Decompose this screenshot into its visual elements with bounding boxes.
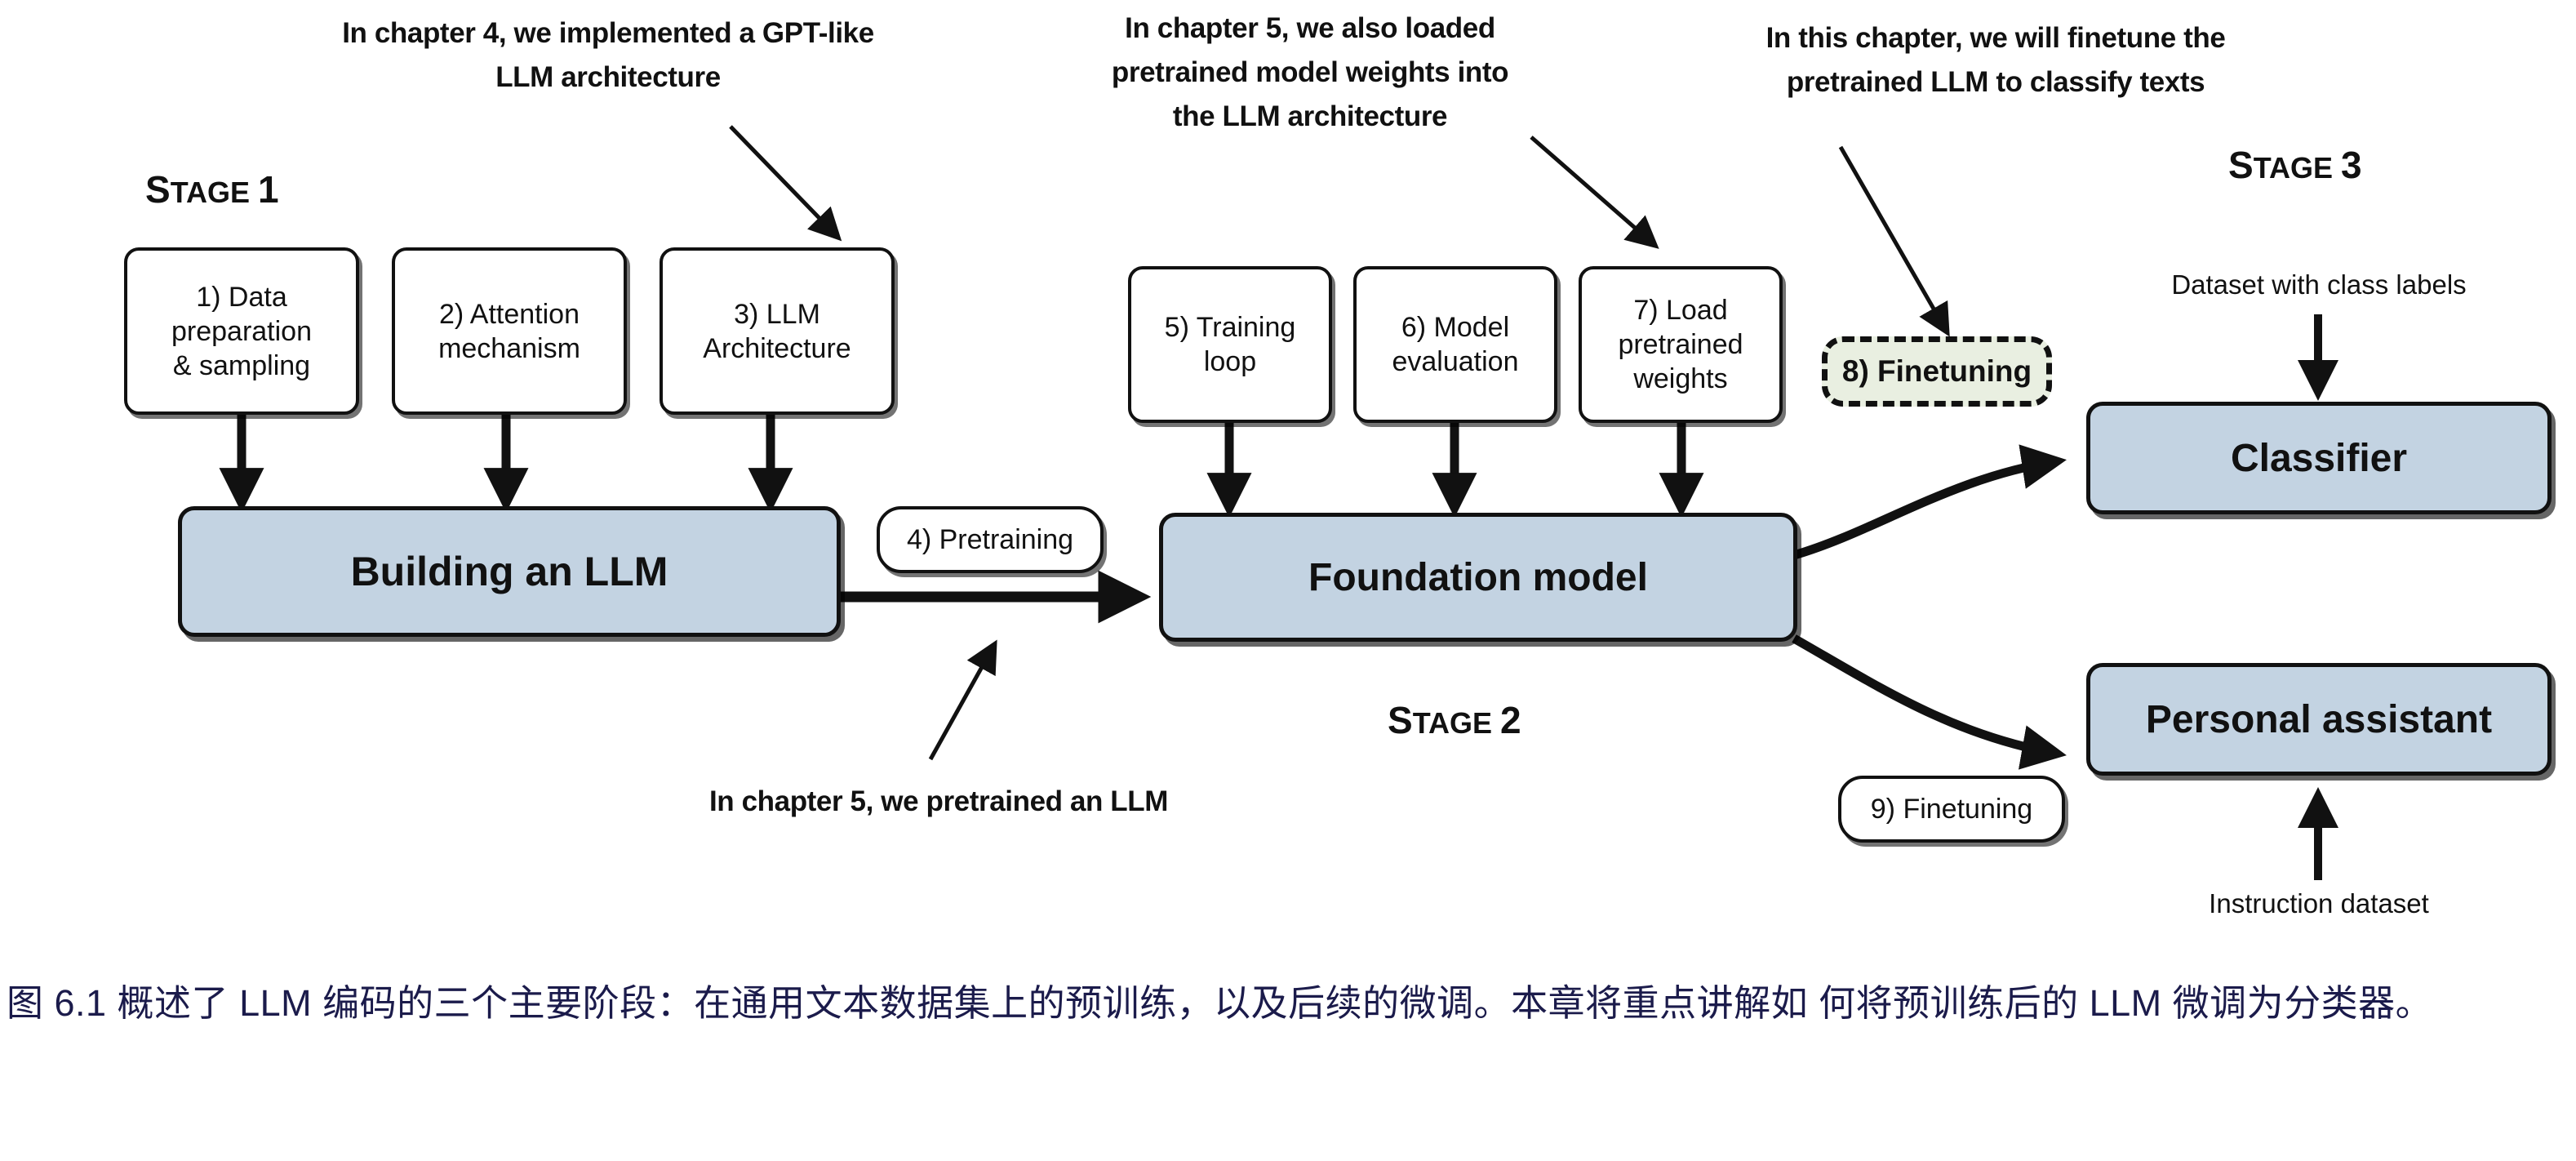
stage-1-initial: S [145, 168, 171, 211]
stage-3-number: 3 [2341, 144, 2362, 186]
arrow-note-ch4-to-step3 [731, 127, 837, 237]
note-chapter5-pretrained: In chapter 5, we pretrained an LLM [571, 780, 1306, 824]
stage-label-2: STAGE 2 [1388, 698, 1521, 742]
caption-line-2: 何将预训练后的 LLM 微调为分类器。 [1819, 982, 2432, 1024]
connector-pill-9-finetuning[interactable]: 9) Finetuning [1838, 776, 2065, 843]
note-chapter5-weights: In chapter 5, we also loaded pretrained … [1028, 7, 1592, 139]
stage-3-initial: S [2228, 144, 2254, 186]
figure-canvas: In chapter 4, we implemented a GPT-like … [0, 0, 2576, 1161]
arrow-note-ch5weights-to-step7 [1531, 137, 1654, 245]
arrow-note-thischapter-to-finetuning [1841, 147, 1947, 331]
label-instruction-dataset: Instruction dataset [2086, 888, 2552, 919]
label-dataset-with-class-labels: Dataset with class labels [2086, 269, 2552, 300]
step-box-3-llm-architecture[interactable]: 3) LLM Architecture [660, 247, 895, 415]
arrow-foundation-to-classifier [1794, 461, 2057, 555]
stage-1-word: TAGE [171, 176, 258, 209]
outcome-box-foundation-model[interactable]: Foundation model [1159, 513, 1797, 642]
connector-pill-4-pretraining[interactable]: 4) Pretraining [877, 506, 1104, 573]
step-box-2-attention-mechanism[interactable]: 2) Attention mechanism [392, 247, 627, 415]
arrow-foundation-to-assistant [1794, 638, 2057, 754]
stage-3-word: TAGE [2254, 151, 2341, 185]
figure-caption: 图 6.1 概述了 LLM 编码的三个主要阶段：在通用文本数据集上的预训练，以及… [7, 976, 2529, 1030]
outcome-box-building-an-llm[interactable]: Building an LLM [178, 506, 841, 637]
stage-2-number: 2 [1500, 699, 1521, 741]
stage-label-1: STAGE 1 [145, 167, 279, 211]
stage-1-number: 1 [258, 168, 279, 211]
arrow-note-ch5pretrained-to-pretraining [930, 645, 994, 759]
outcome-box-classifier[interactable]: Classifier [2086, 402, 2552, 514]
step-box-7-load-pretrained-weights[interactable]: 7) Load pretrained weights [1579, 266, 1783, 423]
caption-line-1: 图 6.1 概述了 LLM 编码的三个主要阶段：在通用文本数据集上的预训练，以及… [7, 982, 1808, 1024]
stage-2-initial: S [1388, 699, 1413, 741]
highlight-box-8-finetuning[interactable]: 8) Finetuning [1822, 336, 2052, 407]
stage-2-word: TAGE [1413, 706, 1500, 740]
note-this-chapter: In this chapter, we will finetune the pr… [1673, 16, 2318, 105]
stage-label-3: STAGE 3 [2228, 143, 2362, 187]
outcome-box-personal-assistant[interactable]: Personal assistant [2086, 663, 2552, 776]
step-box-6-model-evaluation[interactable]: 6) Model evaluation [1353, 266, 1557, 423]
note-chapter4: In chapter 4, we implemented a GPT-like … [286, 11, 930, 100]
step-box-5-training-loop[interactable]: 5) Training loop [1128, 266, 1332, 423]
step-box-1-data-preparation[interactable]: 1) Data preparation & sampling [124, 247, 359, 415]
